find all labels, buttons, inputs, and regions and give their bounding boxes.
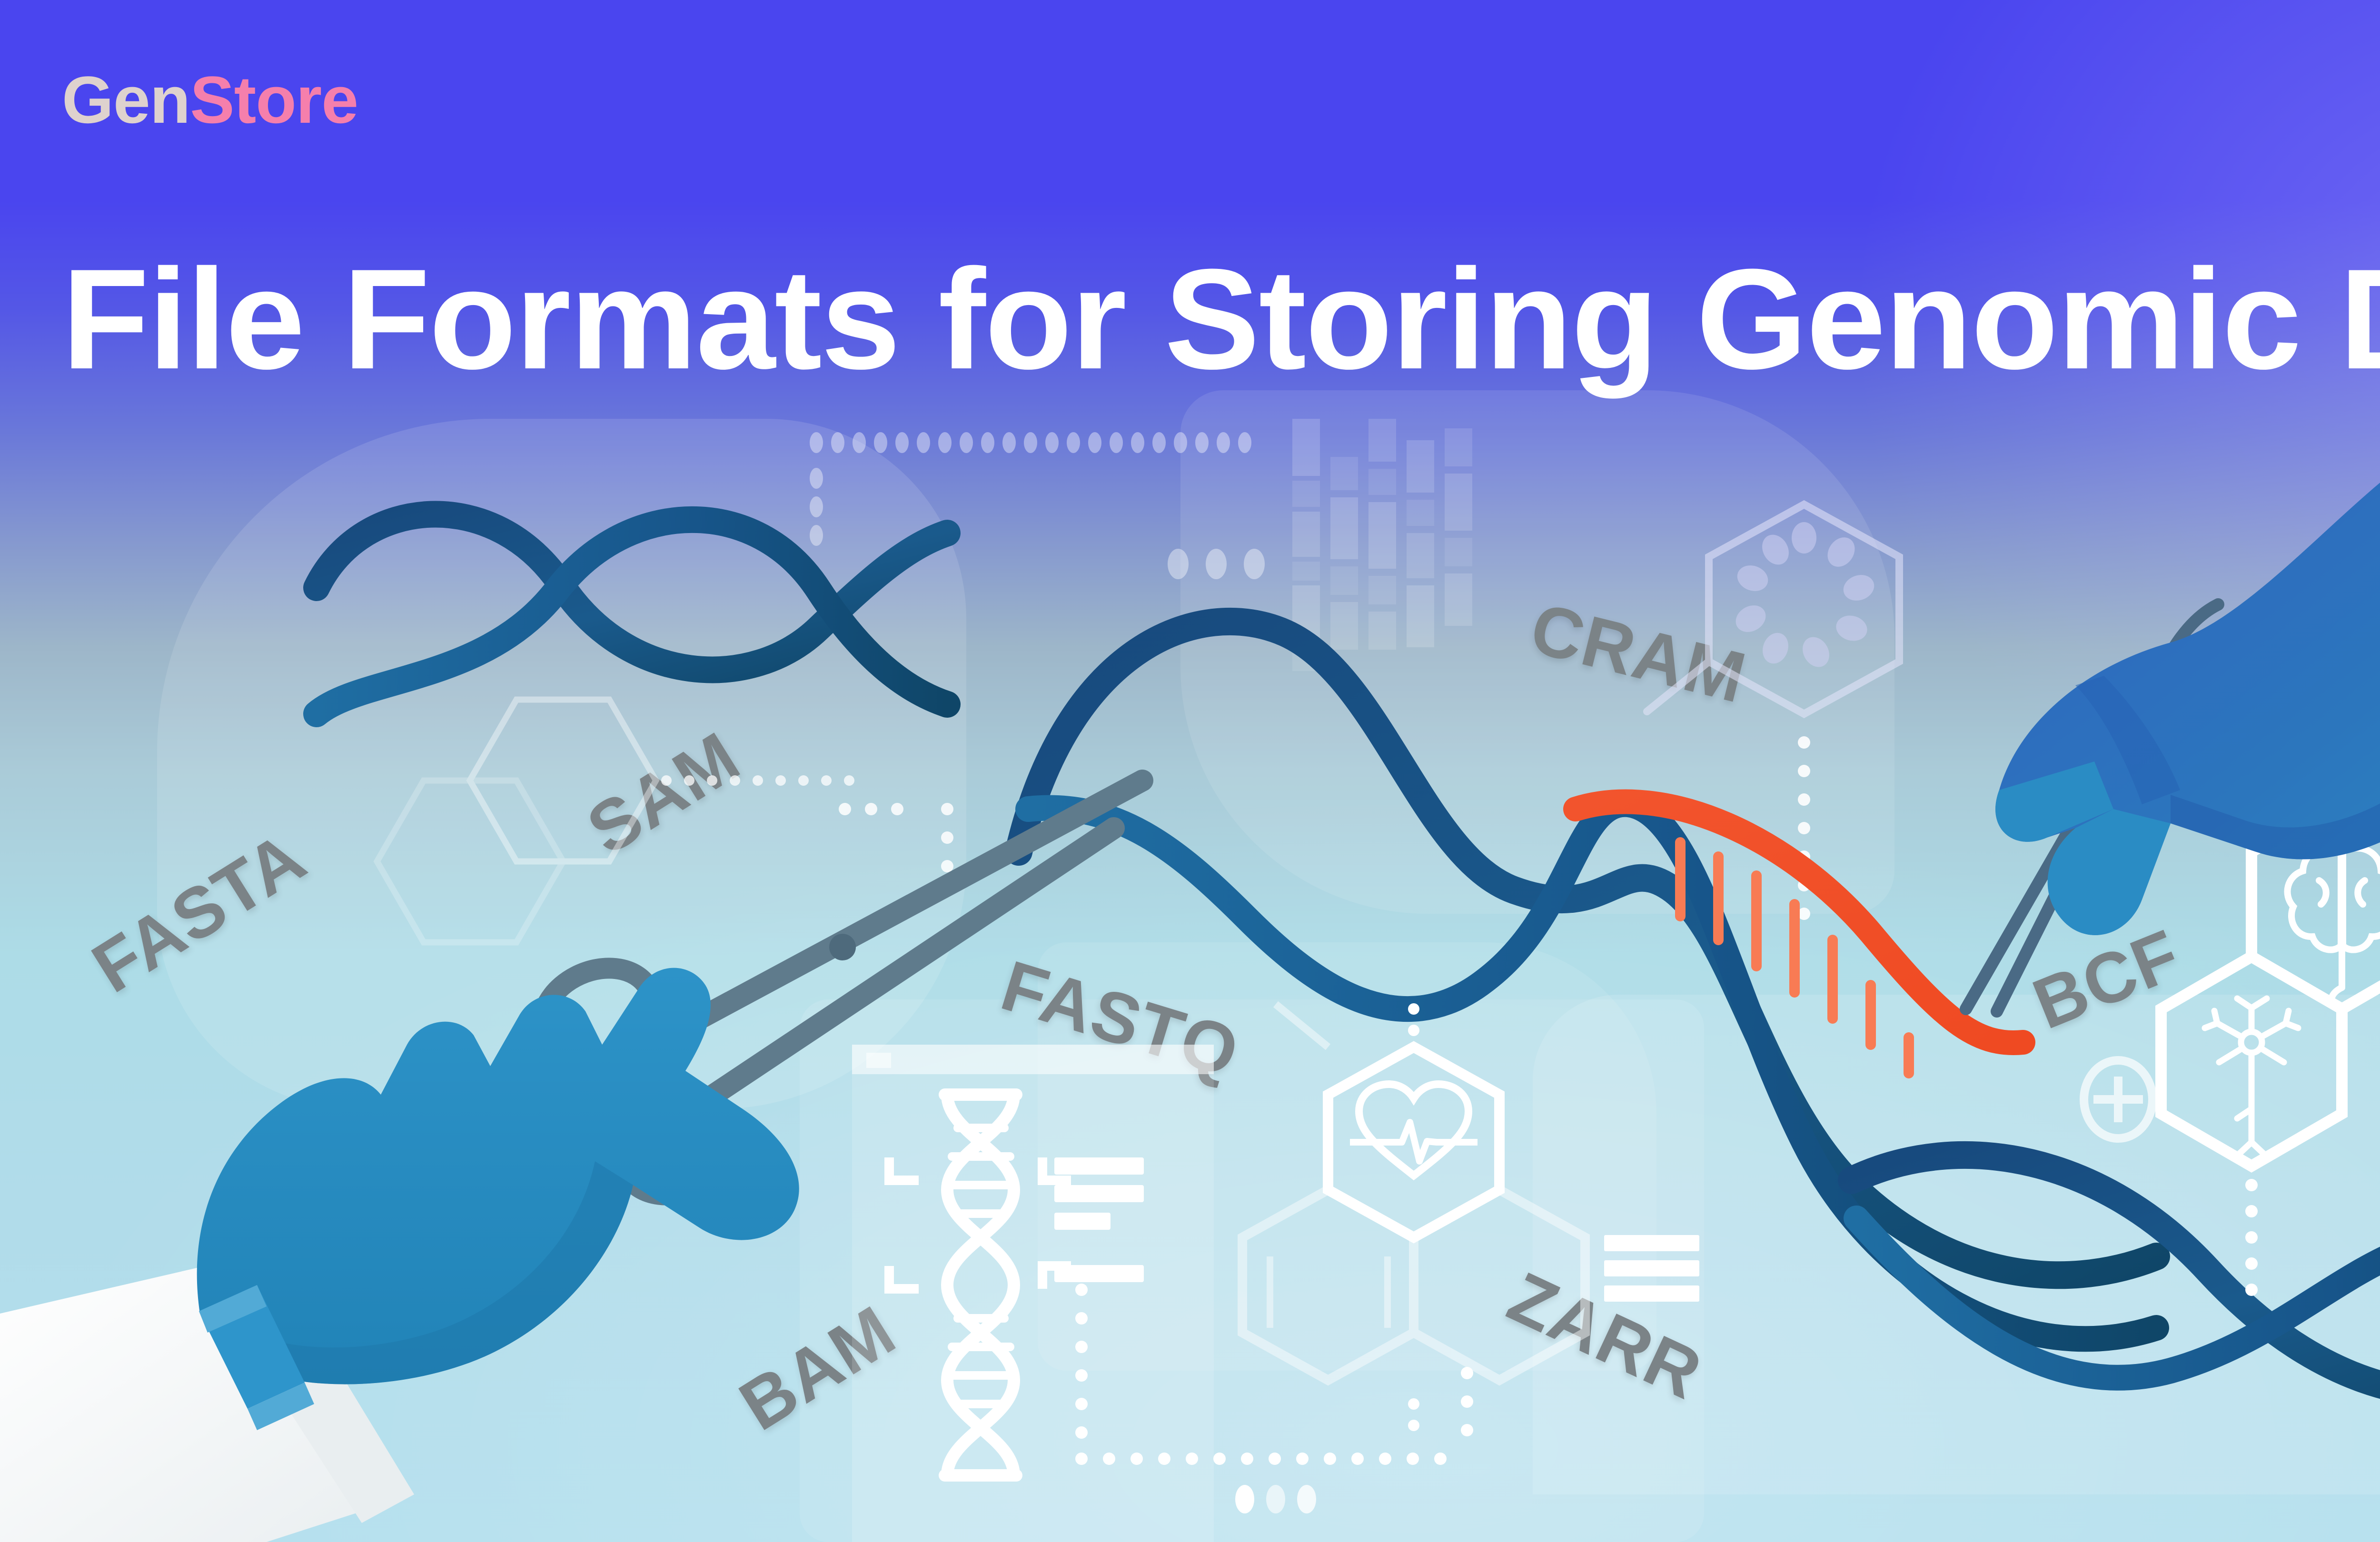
neuron-hex-icon: [2161, 957, 2342, 1166]
text-lines-icon-zarr: [1604, 1235, 1699, 1302]
genomic-file-formats-banner: FASTASAMCRAMFASTQBAMZARRBCFGFFGVF GenSto…: [0, 0, 2380, 1542]
foreground-layer: [0, 0, 2380, 1542]
decorative-hexagons-center: [1242, 1004, 1585, 1380]
dotted-connector-right: [2245, 1179, 2258, 1296]
dotted-connector-center: [1408, 1003, 1419, 1431]
plus-circle-icon: [2084, 1060, 2152, 1138]
gloved-hand-right: [1995, 426, 2380, 935]
gloved-hand-left: [197, 968, 799, 1430]
